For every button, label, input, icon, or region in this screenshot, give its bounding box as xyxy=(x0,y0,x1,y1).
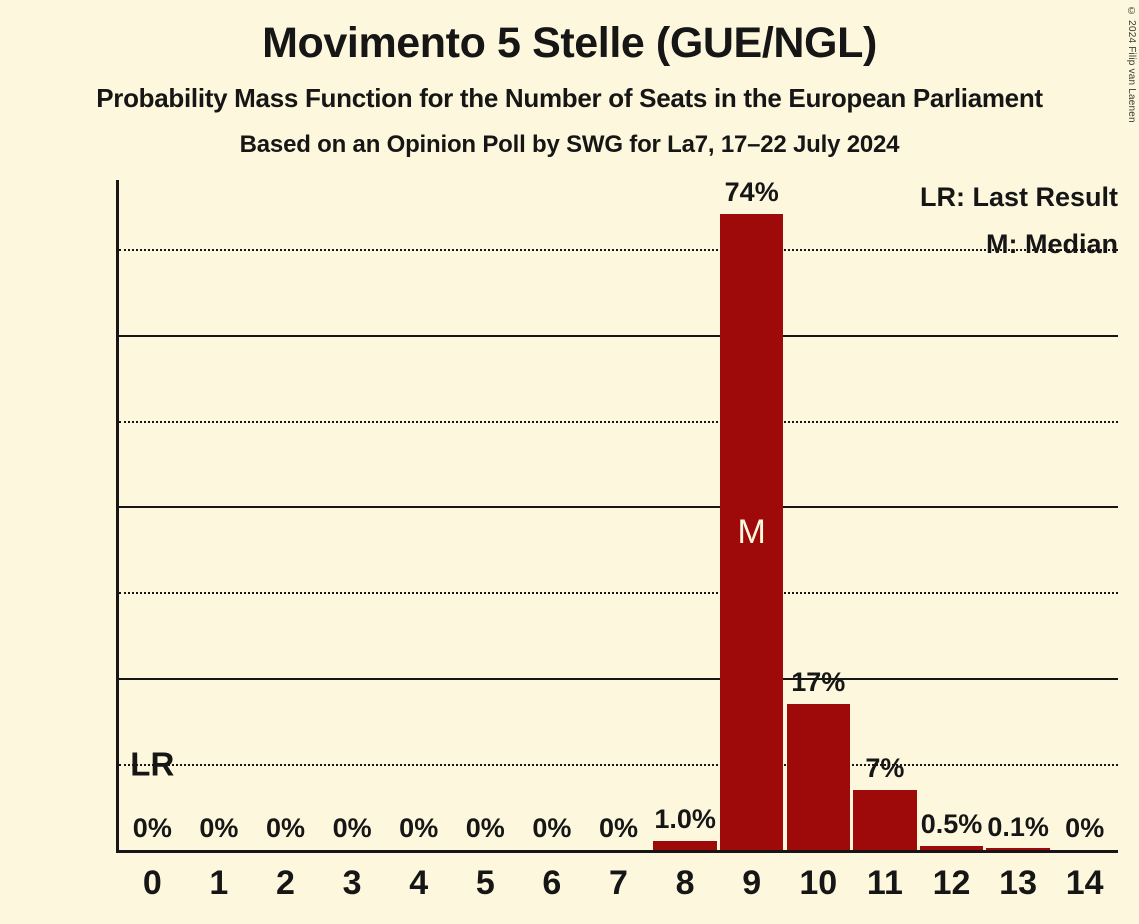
chart-source-note: Based on an Opinion Poll by SWG for La7,… xyxy=(0,111,1139,157)
x-tick-label-7: 7 xyxy=(585,866,652,900)
x-tick-label-8: 8 xyxy=(652,866,719,900)
bar-seat-12[interactable] xyxy=(920,846,984,850)
x-tick-label-5: 5 xyxy=(452,866,519,900)
gridline-minor-30 xyxy=(119,592,1118,594)
x-tick-label-14: 14 xyxy=(1051,866,1118,900)
gridline-minor-10 xyxy=(119,764,1118,766)
median-marker: M xyxy=(718,515,785,549)
last-result-marker: LR xyxy=(119,748,186,781)
bar-value-label-seat-9: 74% xyxy=(695,179,808,206)
x-tick-label-11: 11 xyxy=(852,866,919,900)
x-tick-label-13: 13 xyxy=(985,866,1052,900)
gridline-major-20 xyxy=(119,678,1118,680)
page-title: Movimento 5 Stelle (GUE/NGL) xyxy=(0,0,1139,65)
bar-value-label-seat-11: 7% xyxy=(828,755,941,782)
x-tick-label-2: 2 xyxy=(252,866,319,900)
x-tick-label-9: 9 xyxy=(718,866,785,900)
bar-seat-8[interactable] xyxy=(653,841,717,850)
x-axis-line xyxy=(116,850,1118,853)
bar-value-label-seat-10: 17% xyxy=(762,669,875,696)
x-tick-label-0: 0 xyxy=(119,866,186,900)
copyright-notice: © 2024 Filip van Laenen xyxy=(1126,6,1137,123)
x-tick-label-12: 12 xyxy=(918,866,985,900)
x-tick-label-6: 6 xyxy=(519,866,586,900)
chart-subtitle: Probability Mass Function for the Number… xyxy=(0,65,1139,111)
gridline-minor-70 xyxy=(119,249,1118,251)
x-tick-label-10: 10 xyxy=(785,866,852,900)
plot-area: 20%40%60% 0%0%0%0%0%0%0%0%1.0%74%17%7%0.… xyxy=(119,180,1118,850)
bar-value-label-seat-14: 0% xyxy=(1028,815,1139,842)
gridline-major-40 xyxy=(119,506,1118,508)
x-tick-label-4: 4 xyxy=(385,866,452,900)
x-tick-label-1: 1 xyxy=(186,866,253,900)
gridline-major-60 xyxy=(119,335,1118,337)
bar-seat-13[interactable] xyxy=(986,848,1050,850)
gridline-minor-50 xyxy=(119,421,1118,423)
chart-header: Movimento 5 Stelle (GUE/NGL) Probability… xyxy=(0,0,1139,157)
x-tick-label-3: 3 xyxy=(319,866,386,900)
